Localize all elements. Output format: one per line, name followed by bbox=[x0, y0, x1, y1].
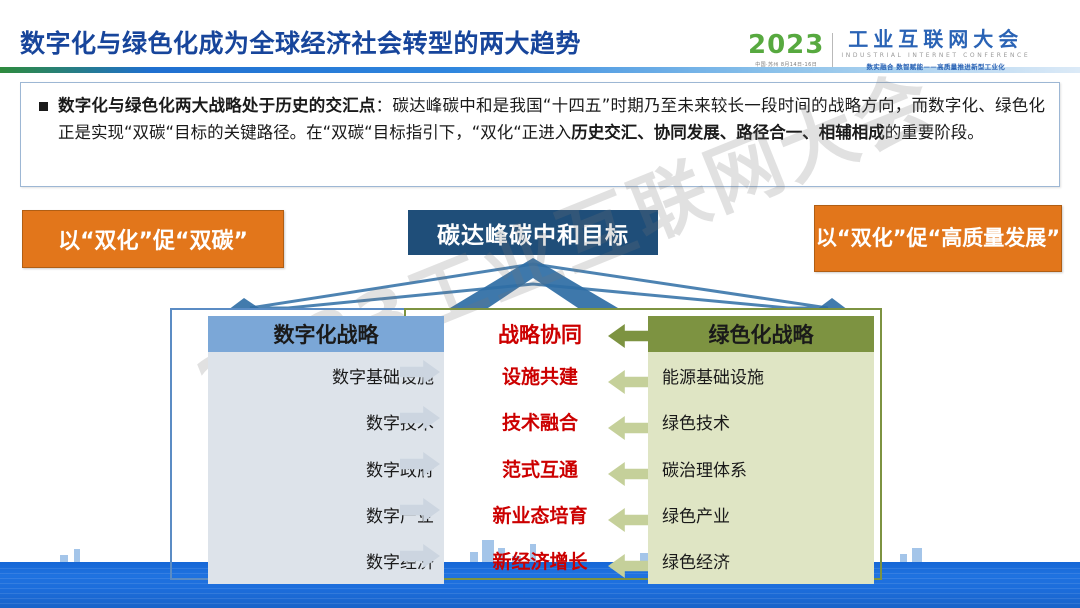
left-arrow-stack bbox=[400, 352, 444, 584]
digital-strategy-header: 数字化战略 bbox=[208, 316, 444, 352]
list-item: 范式互通 bbox=[460, 445, 620, 491]
arrow-right-icon bbox=[400, 498, 440, 522]
statement-body-2: 的重要阶段。 bbox=[885, 123, 984, 142]
list-item: 设施共建 bbox=[460, 352, 620, 398]
arrow-left-icon bbox=[608, 554, 648, 578]
statement-lead: 数字化与绿色化两大战略处于历史的交汇点 bbox=[58, 96, 376, 115]
statement-text: 数字化与绿色化两大战略处于历史的交汇点：碳达峰碳中和是我国“十四五”时期乃至未来… bbox=[58, 93, 1045, 146]
green-strategy-header: 绿色化战略 bbox=[648, 316, 874, 352]
logo-name-en: INDUSTRIAL INTERNET CONFERENCE bbox=[841, 52, 1030, 59]
page-title: 数字化与绿色化成为全球经济社会转型的两大趋势 bbox=[20, 24, 581, 60]
strategy-synergy-header: 战略协同 bbox=[460, 316, 620, 352]
logo-slogan: 数实融合 数智赋能——高质量推进新型工业化 bbox=[841, 61, 1030, 71]
arrow-right-icon bbox=[400, 406, 440, 430]
logo-name-block: 工业互联网大会 INDUSTRIAL INTERNET CONFERENCE 数… bbox=[841, 29, 1030, 71]
list-item: 绿色产业 bbox=[648, 491, 874, 537]
banner-right: 以“双化”促“高质量发展” bbox=[814, 205, 1062, 272]
right-arrow-stack bbox=[608, 352, 652, 584]
logo-divider-icon bbox=[832, 33, 833, 67]
statement-panel: 数字化与绿色化两大战略处于历史的交汇点：碳达峰碳中和是我国“十四五”时期乃至未来… bbox=[20, 82, 1060, 187]
slide-canvas: 数字化与绿色化成为全球经济社会转型的两大趋势 2023 中国·苏州 8月14日-… bbox=[0, 0, 1080, 608]
connector-chevrons bbox=[228, 258, 848, 314]
conference-logo: 2023 中国·苏州 8月14日-16日 工业互联网大会 INDUSTRIAL … bbox=[748, 28, 1074, 72]
arrow-left-icon bbox=[608, 370, 648, 394]
statement-emphasis: 历史交汇、协同发展、路径合一、相辅相成 bbox=[571, 123, 885, 142]
list-item: 绿色经济 bbox=[648, 538, 874, 584]
target-box: 碳达峰碳中和目标 bbox=[408, 210, 658, 255]
list-item: 能源基础设施 bbox=[648, 352, 874, 398]
arrow-left-icon bbox=[608, 416, 648, 440]
arrow-left-icon bbox=[608, 462, 648, 486]
logo-name-cn: 工业互联网大会 bbox=[841, 29, 1030, 49]
list-item: 新业态培育 bbox=[460, 491, 620, 537]
list-item: 新经济增长 bbox=[460, 538, 620, 584]
list-item: 技术融合 bbox=[460, 398, 620, 444]
green-strategy-column: 绿色化战略 能源基础设施 绿色技术 碳治理体系 绿色产业 绿色经济 bbox=[648, 316, 874, 584]
square-bullet-icon bbox=[39, 102, 48, 111]
list-item: 绿色技术 bbox=[648, 398, 874, 444]
list-item: 碳治理体系 bbox=[648, 445, 874, 491]
arrow-right-icon bbox=[400, 544, 440, 568]
arrow-right-icon bbox=[400, 452, 440, 476]
logo-year: 2023 bbox=[748, 32, 824, 58]
arrow-right-icon bbox=[400, 360, 440, 384]
arrow-left-icon bbox=[608, 508, 648, 532]
strategy-synergy-column: 战略协同 设施共建 技术融合 范式互通 新业态培育 新经济增长 bbox=[460, 316, 620, 584]
logo-year-block: 2023 中国·苏州 8月14日-16日 bbox=[748, 32, 824, 68]
logo-year-subtitle: 中国·苏州 8月14日-16日 bbox=[748, 61, 824, 68]
